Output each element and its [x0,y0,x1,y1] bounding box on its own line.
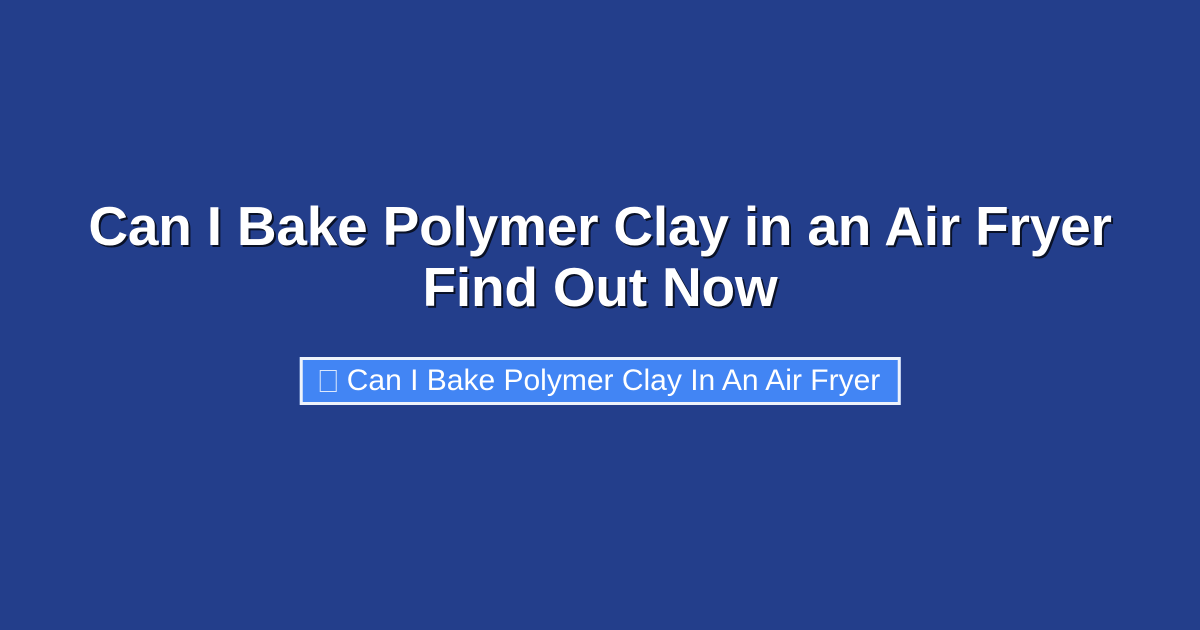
missing-glyph-box-icon [320,370,337,392]
cta-button-label: Can I Bake Polymer Clay In An Air Fryer [347,366,881,396]
cta-button[interactable]: Can I Bake Polymer Clay In An Air Fryer [300,357,901,405]
social-share-card: Can I Bake Polymer Clay in an Air Fryer … [0,0,1200,630]
page-title: Can I Bake Polymer Clay in an Air Fryer … [54,196,1146,318]
